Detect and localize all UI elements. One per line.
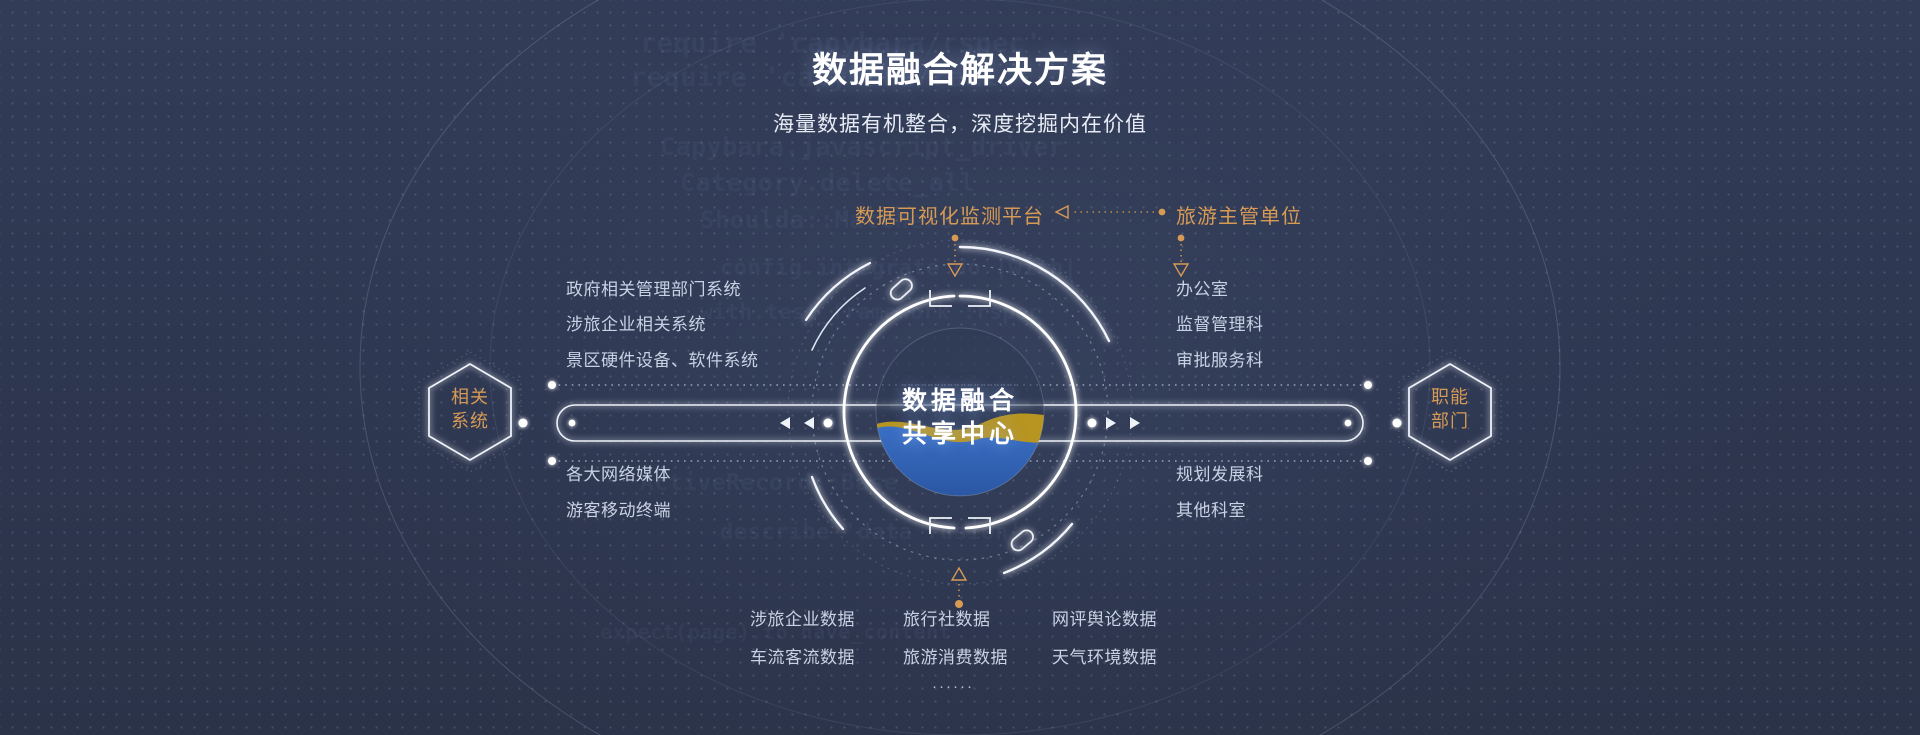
bottom-data-item-r1c1: 涉旅企业数据 xyxy=(750,605,855,630)
right-down-arrow-dot xyxy=(1178,235,1185,242)
left-source-item-3: 景区硬件设备、软件系统 xyxy=(566,346,759,371)
right-department-item-5: 其他科室 xyxy=(1176,496,1246,521)
top-horizontal-arrowhead xyxy=(1056,206,1068,218)
bottom-data-ellipsis: ······ xyxy=(932,678,974,695)
left-lower-node-dot xyxy=(548,457,556,465)
left-down-arrowhead xyxy=(948,264,962,276)
bottom-data-item-r1c3: 网评舆论数据 xyxy=(1052,605,1157,630)
page-background: require 'capybara/rspec' require 'capyba… xyxy=(0,0,1920,735)
page-title: 数据融合解决方案 xyxy=(0,42,1920,93)
right-flow-arrow-2 xyxy=(1106,417,1116,429)
right-department-item-4: 规划发展科 xyxy=(1176,460,1264,485)
left-source-item-1: 政府相关管理部门系统 xyxy=(566,275,741,300)
right-department-item-3: 审批服务科 xyxy=(1176,346,1264,371)
left-down-arrow-dot xyxy=(952,235,959,242)
right-lower-node-dot xyxy=(1364,457,1372,465)
label-visualization-platform[interactable]: 数据可视化监测平台 xyxy=(855,200,1044,229)
core-label-line2: 共享中心 xyxy=(830,418,1090,451)
ring-capsule-marker-bottom-right xyxy=(1009,528,1036,553)
bottom-data-item-r1c2: 旅行社数据 xyxy=(903,605,991,630)
left-source-item-4: 各大网络媒体 xyxy=(566,460,671,485)
core-center-label: 数据融合 共享中心 xyxy=(830,385,1090,450)
bottom-up-arrowhead xyxy=(952,568,966,580)
core-label-line1: 数据融合 xyxy=(830,385,1090,418)
left-upper-node-dot xyxy=(548,381,556,389)
right-spine-inner-dot xyxy=(1345,420,1352,427)
ring-capsule-marker-top-left xyxy=(888,277,915,303)
ring-third-arc-left xyxy=(812,288,865,350)
right-department-item-2: 监督管理科 xyxy=(1176,310,1264,335)
left-source-item-5: 游客移动终端 xyxy=(566,496,671,521)
hexagon-left-label-line1: 相关 xyxy=(410,385,530,409)
left-source-item-2: 涉旅企业相关系统 xyxy=(566,310,706,335)
top-horizontal-source-dot xyxy=(1159,209,1166,216)
hexagon-right-label[interactable]: 职能 部门 xyxy=(1390,385,1510,434)
bottom-data-item-r2c1: 车流客流数据 xyxy=(750,643,855,668)
hexagon-left-label-line2: 系统 xyxy=(410,409,530,433)
bottom-data-item-r2c2: 旅游消费数据 xyxy=(903,643,1008,668)
label-tourism-authority[interactable]: 旅游主管单位 xyxy=(1176,200,1302,229)
hexagon-left-label[interactable]: 相关 系统 xyxy=(410,385,530,434)
hexagon-right-label-line1: 职能 xyxy=(1390,385,1510,409)
right-department-item-1: 办公室 xyxy=(1176,275,1229,300)
hexagon-right-label-line2: 部门 xyxy=(1390,409,1510,433)
ring-outer-arc-top-right xyxy=(960,247,1109,341)
left-spine-inner-dot xyxy=(569,420,576,427)
page-subtitle: 海量数据有机整合，深度挖掘内在价值 xyxy=(0,108,1920,138)
bottom-data-item-r2c3: 天气环境数据 xyxy=(1052,643,1157,668)
right-upper-node-dot xyxy=(1364,381,1372,389)
